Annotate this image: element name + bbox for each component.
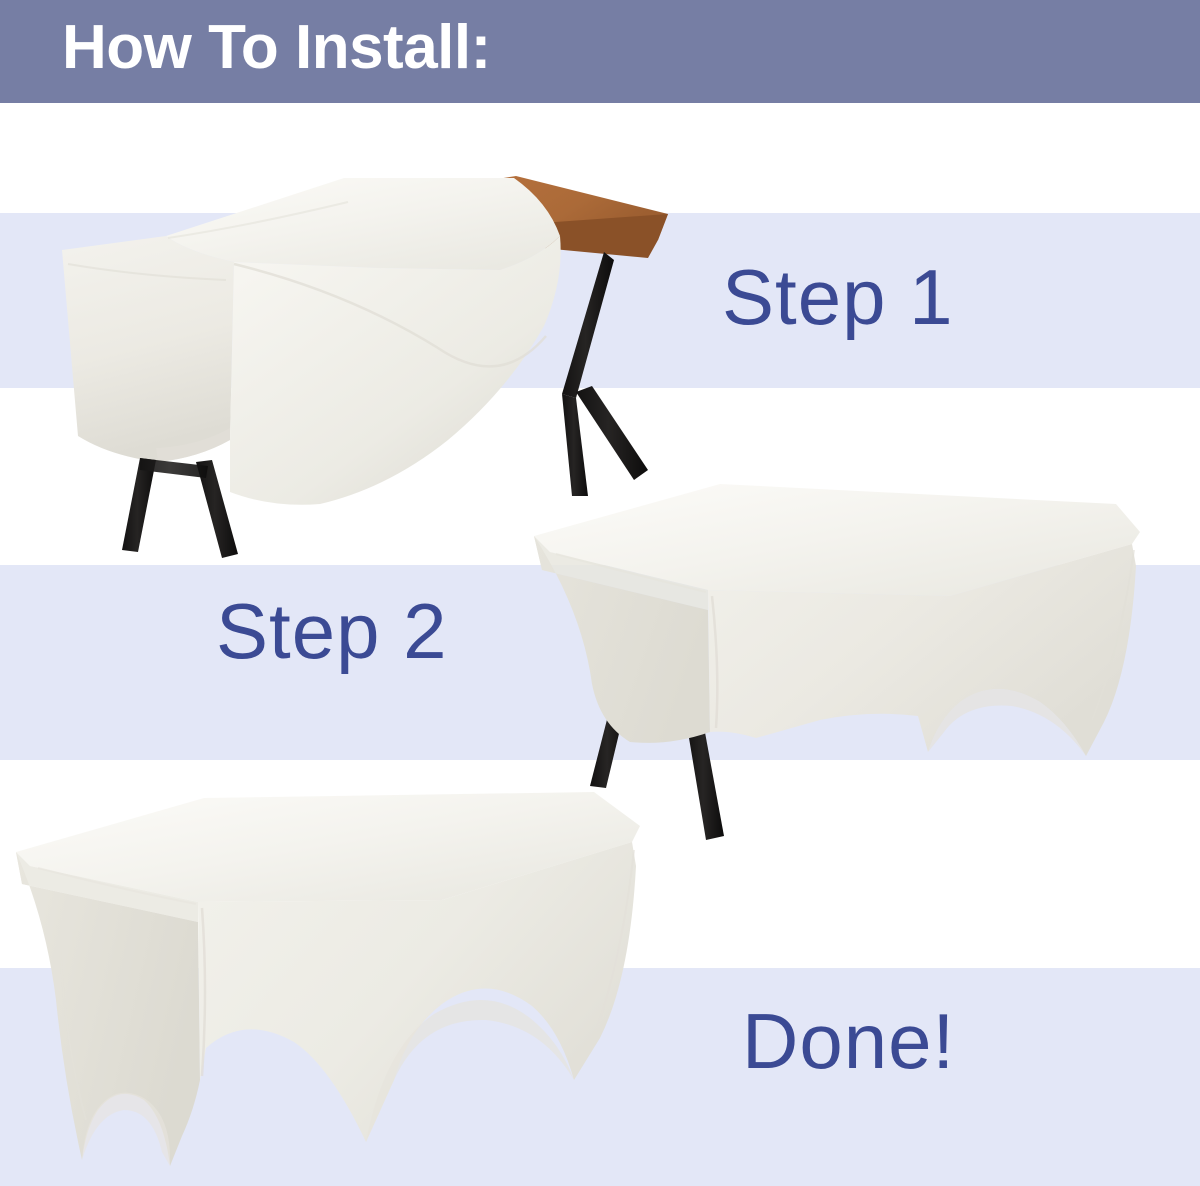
table-leg-right [562, 252, 648, 496]
step-label-2: Step 2 [216, 592, 448, 670]
how-to-install-graphic: How To Install: [0, 0, 1200, 1186]
step-label-1: Step 1 [722, 258, 954, 336]
table-leg-left [122, 458, 238, 558]
cover-top-surface [166, 178, 560, 270]
cover-left-panel [62, 236, 234, 462]
step-label-done: Done! [742, 1002, 955, 1080]
illustration-done [0, 780, 674, 1180]
page-title: How To Install: [62, 17, 491, 79]
